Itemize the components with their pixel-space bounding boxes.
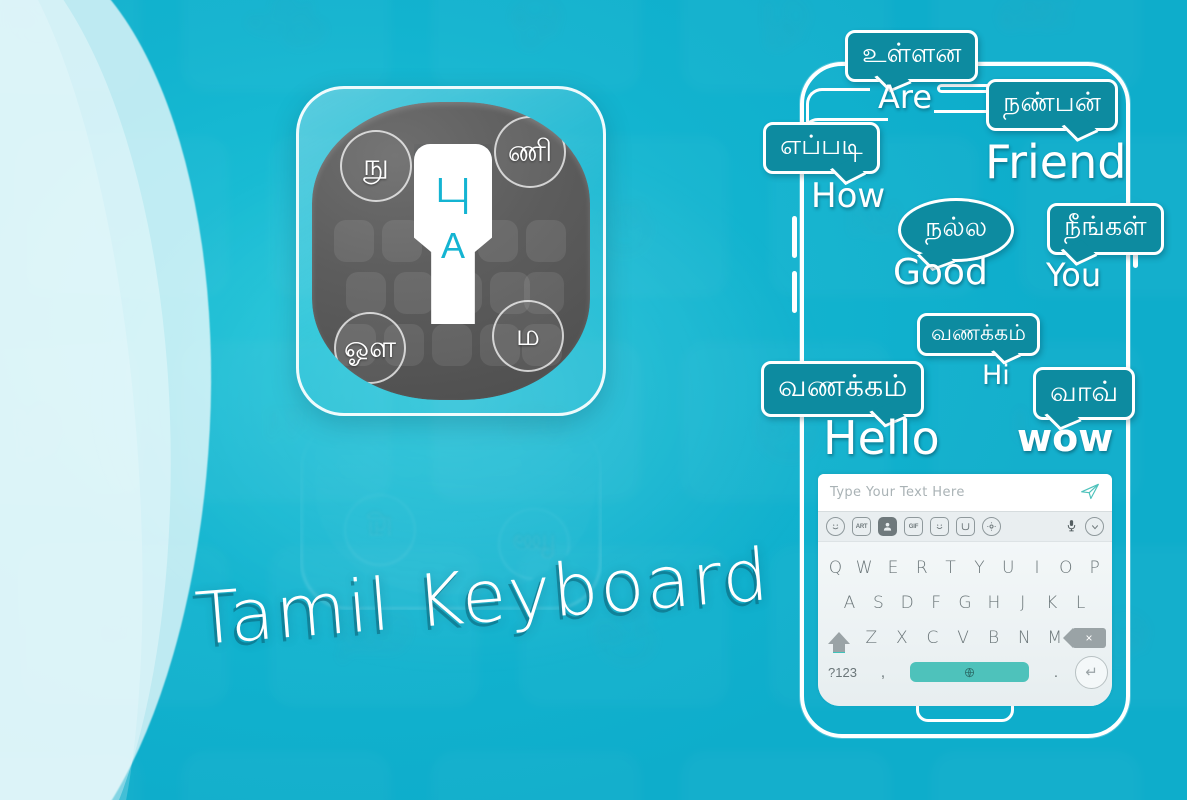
- key-r[interactable]: R: [908, 558, 935, 578]
- backspace-key[interactable]: ×: [1072, 628, 1106, 648]
- key-g[interactable]: G: [952, 593, 979, 613]
- logo-circle-top-left: நு: [340, 130, 412, 202]
- background-key: ஒ: [430, 0, 642, 93]
- key-c[interactable]: C: [917, 628, 948, 648]
- logo-circle-bottom-right: ம: [492, 300, 564, 372]
- keyboard-panel: Type Your Text Here ART: [818, 474, 1112, 706]
- bubble-neengal: நீங்கள்: [1047, 203, 1164, 255]
- text-input-row[interactable]: Type Your Text Here: [818, 474, 1112, 512]
- phone-home-button: [916, 706, 1014, 722]
- bubble-vaav-text: வாவ்: [1050, 376, 1118, 407]
- logo-center-key-english: A: [441, 228, 465, 264]
- keyboard-row-1: QWERTYUIOP: [822, 550, 1108, 585]
- keyboard-row-2: ASDFGHJKL: [822, 585, 1108, 620]
- logo-inner-key: [394, 272, 434, 314]
- gloss-hi: Hi: [982, 360, 1010, 391]
- bubble-ullana-text: உள்ளன: [862, 38, 961, 68]
- logo-circle-bottom-left: ஓள: [334, 312, 406, 384]
- shift-icon[interactable]: [824, 632, 854, 644]
- settings-icon[interactable]: [982, 517, 1001, 536]
- logo-inner-key: [526, 220, 566, 262]
- key-i[interactable]: I: [1024, 558, 1051, 578]
- key-j[interactable]: J: [1009, 593, 1036, 613]
- emoji-icon[interactable]: [826, 517, 845, 536]
- bubble-vanakkam-hi-text: வணக்கம்: [931, 320, 1026, 345]
- phone-speaker: [937, 84, 993, 93]
- key-k[interactable]: K: [1038, 593, 1065, 613]
- key-o[interactable]: O: [1052, 558, 1079, 578]
- symbols-key[interactable]: ?123: [822, 665, 864, 680]
- keyboard-row-3: ZXCVBNM ×: [822, 620, 1108, 655]
- microphone-icon[interactable]: [1065, 518, 1078, 536]
- bubble-nalla-text: நல்ல: [925, 212, 987, 242]
- phone-volume-up-button: [792, 216, 797, 258]
- bubble-eppadi-text: எப்படி: [780, 130, 863, 160]
- key-d[interactable]: D: [894, 593, 921, 613]
- gloss-friend: Friend: [985, 135, 1126, 189]
- gloss-how: How: [811, 176, 885, 216]
- key-t[interactable]: T: [937, 558, 964, 578]
- theme-icon[interactable]: [956, 517, 975, 536]
- key-l[interactable]: L: [1067, 593, 1094, 613]
- key-z[interactable]: Z: [856, 628, 887, 648]
- logo-center-key-tamil: பு: [434, 160, 471, 210]
- background-key: ரு: [930, 750, 1142, 800]
- bubble-vanakkam-hi: வணக்கம்: [917, 313, 1040, 356]
- logo-circle-top-right: ணி: [494, 116, 566, 188]
- keyboard-row-3-letters: ZXCVBNM: [856, 628, 1070, 648]
- bubble-nanban: நண்பன்: [986, 79, 1118, 131]
- gloss-good: Good: [893, 252, 988, 293]
- gif-icon[interactable]: GIF: [904, 517, 923, 536]
- app-promo-banner: ஞஆஒழணஎளருஙஓழஈஸஞபளஹஞஆஒழணஎளரு நு ணி ஓள ம ந…: [0, 0, 1187, 800]
- key-h[interactable]: H: [980, 593, 1007, 613]
- key-n[interactable]: N: [1009, 628, 1040, 648]
- text-input-placeholder[interactable]: Type Your Text Here: [830, 485, 1080, 500]
- gloss-are: Are: [878, 78, 932, 116]
- gloss-hello: Hello: [823, 411, 940, 465]
- bubble-eppadi: எப்படி: [763, 122, 880, 174]
- logo-inner-key: [432, 324, 472, 366]
- bubble-nanban-text: நண்பன்: [1003, 87, 1101, 117]
- key-v[interactable]: V: [948, 628, 979, 648]
- comma-key[interactable]: ,: [866, 664, 900, 681]
- enter-key[interactable]: ↵: [1075, 656, 1108, 689]
- key-b[interactable]: B: [978, 628, 1009, 648]
- gloss-wow: wow: [1017, 416, 1113, 460]
- send-plane-icon[interactable]: [1080, 481, 1100, 505]
- logo-inner-key: [334, 220, 374, 262]
- space-key[interactable]: [910, 662, 1029, 682]
- key-e[interactable]: E: [880, 558, 907, 578]
- logo-inner-key: [346, 272, 386, 314]
- key-q[interactable]: Q: [822, 558, 849, 578]
- background-key: ள: [680, 750, 892, 800]
- keyboard-keys: QWERTYUIOP ASDFGHJKL ZXCVBNM × ?123 ,: [818, 542, 1112, 706]
- sticker-icon[interactable]: [878, 517, 897, 536]
- key-f[interactable]: F: [923, 593, 950, 613]
- key-p[interactable]: P: [1081, 558, 1108, 578]
- chevron-down-icon[interactable]: [1085, 517, 1104, 536]
- key-u[interactable]: U: [995, 558, 1022, 578]
- bubble-ullana: உள்ளன: [845, 30, 978, 82]
- gloss-you: You: [1046, 256, 1101, 294]
- key-a[interactable]: A: [836, 593, 863, 613]
- bubble-neengal-text: நீங்கள்: [1064, 211, 1147, 241]
- phone-volume-down-button: [792, 271, 797, 313]
- key-s[interactable]: S: [865, 593, 892, 613]
- keyboard-toolbar: ART GIF: [818, 512, 1112, 542]
- bubble-vaav: வாவ்: [1033, 367, 1135, 420]
- background-key: எ: [430, 750, 642, 800]
- background-key: ண: [180, 750, 392, 800]
- period-key[interactable]: .: [1039, 664, 1073, 681]
- bubble-vanakkam-hello-text: வணக்கம்: [778, 370, 907, 403]
- app-logo: நு ணி ஓள ம பு A: [296, 86, 606, 416]
- bubble-vanakkam-hello: வணக்கம்: [761, 361, 924, 417]
- background-key: ஆ: [180, 0, 392, 93]
- key-x[interactable]: X: [887, 628, 918, 648]
- keyboard-row-4: ?123 , . ↵: [822, 655, 1108, 689]
- key-y[interactable]: Y: [966, 558, 993, 578]
- key-w[interactable]: W: [851, 558, 878, 578]
- art-icon[interactable]: ART: [852, 517, 871, 536]
- smiley-icon[interactable]: [930, 517, 949, 536]
